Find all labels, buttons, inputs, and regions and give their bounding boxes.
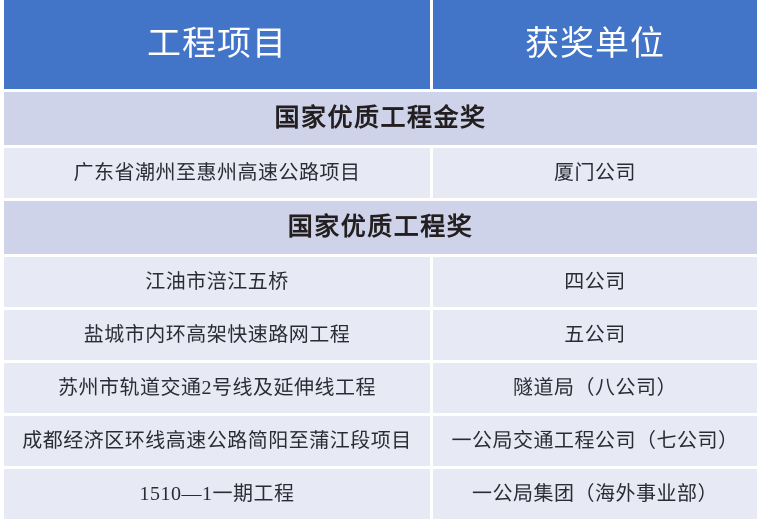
section-header-label: 国家优质工程奖 — [288, 215, 474, 240]
cell-project: 1510—1一期工程 — [4, 469, 430, 519]
column-header-project: 工程项目 — [4, 0, 430, 89]
table-row: 成都经济区环线高速公路简阳至蒲江段项目 一公局交通工程公司（七公司） — [4, 416, 757, 466]
cell-unit: 一公局集团（海外事业部） — [433, 469, 757, 519]
cell-unit: 厦门公司 — [433, 148, 757, 198]
cell-unit: 四公司 — [433, 257, 757, 307]
cell-unit: 隧道局（八公司） — [433, 363, 757, 413]
table-row: 广东省潮州至惠州高速公路项目 厦门公司 — [4, 148, 757, 198]
section-header-row: 国家优质工程奖 — [4, 201, 757, 254]
column-header-unit: 获奖单位 — [433, 0, 757, 89]
cell-project: 广东省潮州至惠州高速公路项目 — [4, 148, 430, 198]
section-header-label: 国家优质工程金奖 — [274, 106, 486, 131]
column-header-project-label: 工程项目 — [147, 28, 287, 62]
cell-project: 苏州市轨道交通2号线及延伸线工程 — [4, 363, 430, 413]
table-row: 江油市涪江五桥 四公司 — [4, 257, 757, 307]
table-header-row: 工程项目 获奖单位 — [4, 0, 757, 89]
cell-unit: 五公司 — [433, 310, 757, 360]
section-header-row: 国家优质工程金奖 — [4, 92, 757, 145]
column-header-unit-label: 获奖单位 — [525, 28, 665, 62]
table-row: 1510—1一期工程 一公局集团（海外事业部） — [4, 469, 757, 519]
cell-unit: 一公局交通工程公司（七公司） — [433, 416, 757, 466]
table-row: 盐城市内环高架快速路网工程 五公司 — [4, 310, 757, 360]
cell-project: 盐城市内环高架快速路网工程 — [4, 310, 430, 360]
cell-project: 成都经济区环线高速公路简阳至蒲江段项目 — [4, 416, 430, 466]
award-table: 工程项目 获奖单位 国家优质工程金奖 广东省潮州至惠州高速公路项目 厦门公司 国… — [0, 0, 762, 522]
table-row: 苏州市轨道交通2号线及延伸线工程 隧道局（八公司） — [4, 363, 757, 413]
cell-project: 江油市涪江五桥 — [4, 257, 430, 307]
